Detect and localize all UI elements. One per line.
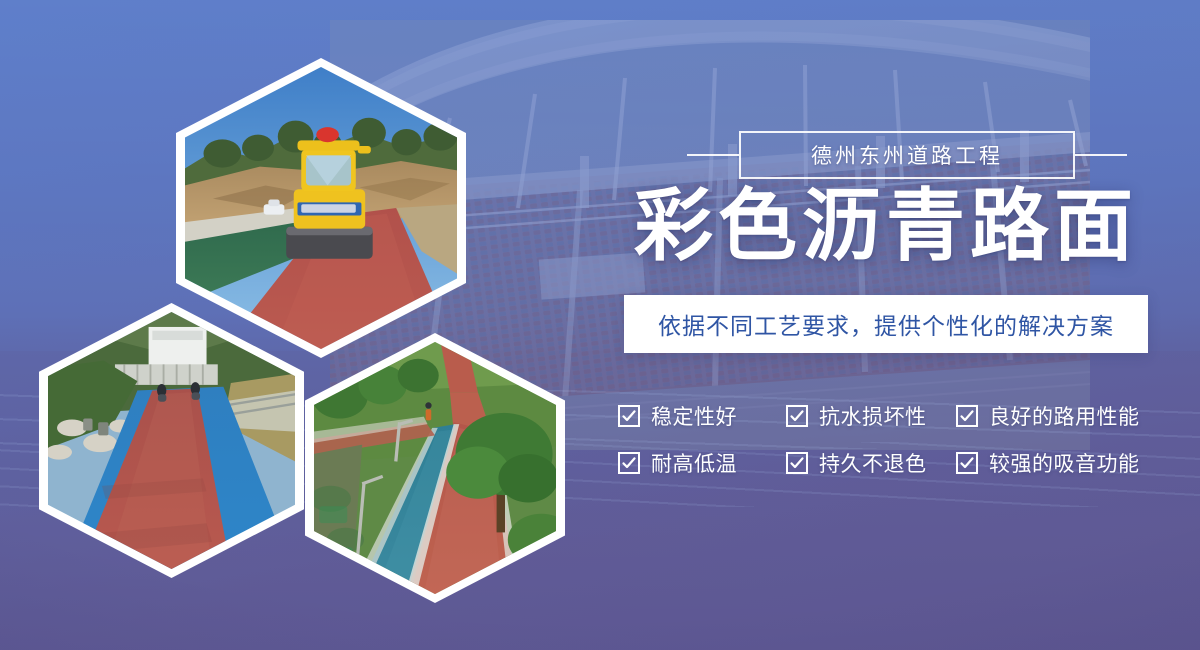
feature-item: 抗水损坏性 [786, 401, 956, 431]
hex-photo-greenway-path-image [314, 342, 556, 594]
page-title: 彩色沥青路面 [634, 186, 1184, 265]
hex-photo-road-roller[interactable] [176, 58, 466, 358]
hexagon-photo-cluster [0, 0, 600, 650]
check-icon [956, 452, 978, 474]
brand-tagline-box: 德州东州道路工程 [739, 131, 1075, 179]
content-column: 德州东州道路工程 彩色沥青路面 依据不同工艺要求，提供个性化的解决方案 稳定性好… [610, 0, 1200, 650]
check-icon [956, 405, 978, 427]
tagline-rule-left [687, 154, 739, 156]
feature-item: 耐高低温 [618, 448, 786, 478]
hex-photo-red-blue-road[interactable] [39, 303, 304, 578]
check-icon [786, 452, 808, 474]
feature-item: 稳定性好 [618, 401, 786, 431]
brand-tagline-text: 德州东州道路工程 [811, 140, 1003, 170]
subtitle-banner: 依据不同工艺要求，提供个性化的解决方案 [624, 295, 1148, 353]
feature-label: 较强的吸音功能 [989, 448, 1140, 478]
feature-item: 较强的吸音功能 [956, 448, 1162, 478]
hex-photo-road-roller-image [185, 67, 457, 349]
feature-item: 持久不退色 [786, 448, 956, 478]
feature-list: 稳定性好 抗水损坏性 良好的路用性能 耐高低温 [618, 392, 1178, 486]
check-icon [786, 405, 808, 427]
feature-item: 良好的路用性能 [956, 401, 1162, 431]
feature-label: 耐高低温 [651, 448, 737, 478]
hex-photo-greenway-path[interactable] [305, 333, 565, 603]
tagline-rule-right [1075, 154, 1127, 156]
subtitle-text: 依据不同工艺要求，提供个性化的解决方案 [658, 307, 1114, 341]
brand-tagline-group: 德州东州道路工程 [687, 131, 1127, 179]
feature-label: 稳定性好 [651, 401, 737, 431]
check-icon [618, 452, 640, 474]
feature-label: 抗水损坏性 [819, 401, 927, 431]
feature-label: 持久不退色 [819, 448, 927, 478]
promo-banner: 德州东州道路工程 彩色沥青路面 依据不同工艺要求，提供个性化的解决方案 稳定性好… [0, 0, 1200, 650]
hex-photo-red-blue-road-image [48, 312, 295, 569]
check-icon [618, 405, 640, 427]
feature-label: 良好的路用性能 [989, 401, 1140, 431]
